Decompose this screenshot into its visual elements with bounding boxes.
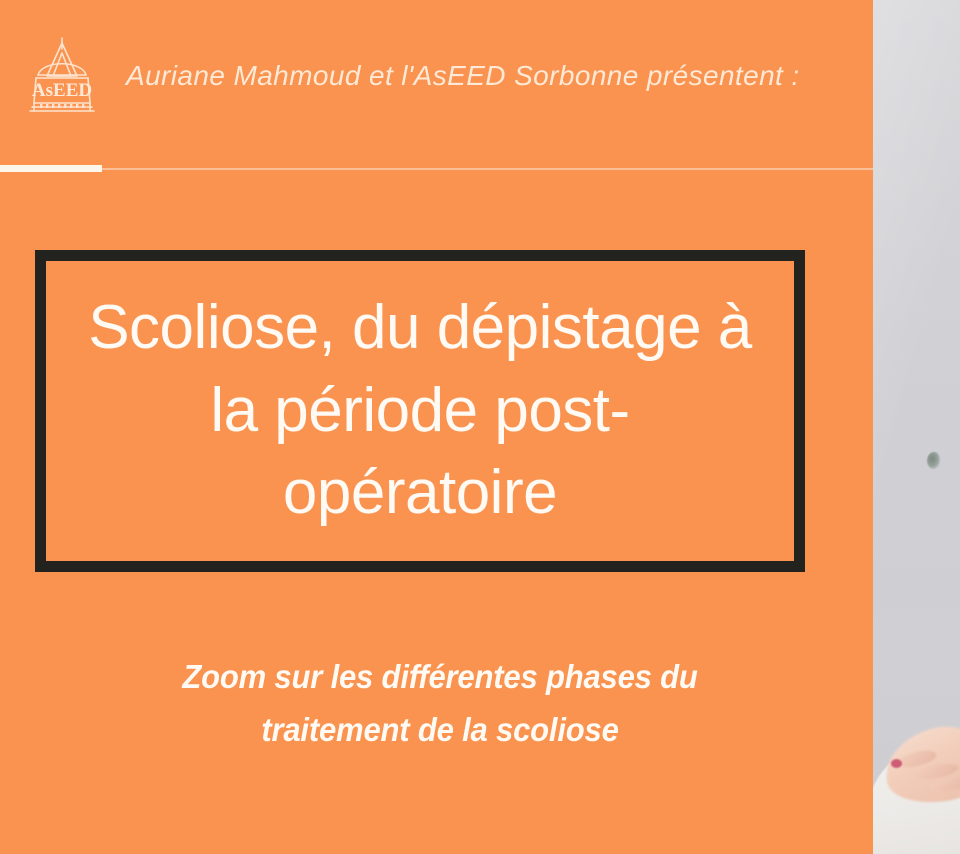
aseed-sorbonne-logo: AsEED	[22, 33, 102, 118]
side-photo	[873, 0, 960, 854]
accent-bar	[0, 165, 102, 172]
slide-subtitle: Zoom sur les différentes phases dutraite…	[83, 650, 797, 757]
content-panel: AsEED Auriane Mahmoud et l'AsEED Sorbonn…	[0, 0, 873, 854]
thin-rule	[0, 168, 873, 170]
text-line: Scoliose, du dépistage à	[60, 287, 780, 369]
photo-dark-speck	[927, 452, 940, 469]
title-frame: Scoliose, du dépistage àla période post-…	[35, 250, 805, 572]
slide-header: AsEED Auriane Mahmoud et l'AsEED Sorbonn…	[0, 0, 873, 168]
photo-fingernail	[891, 759, 902, 768]
text-line: traitement de la scoliose	[83, 703, 797, 756]
text-line: opératoire	[60, 452, 780, 534]
presenter-line: Auriane Mahmoud et l'AsEED Sorbonne prés…	[126, 60, 856, 92]
text-line: la période post-	[60, 370, 780, 452]
text-line: Zoom sur les différentes phases du	[83, 650, 797, 703]
presentation-slide: AsEED Auriane Mahmoud et l'AsEED Sorbonn…	[0, 0, 960, 854]
logo-wordmark: AsEED	[32, 80, 92, 101]
page-title: Scoliose, du dépistage àla période post-…	[46, 287, 794, 534]
